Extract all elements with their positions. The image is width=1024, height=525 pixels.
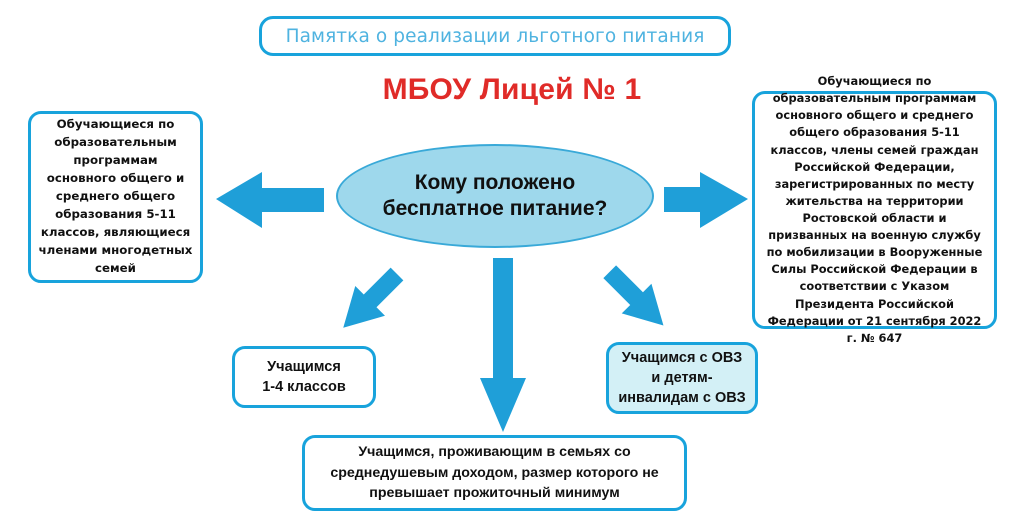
arrow-down-right-icon: [595, 257, 678, 340]
arrow-down-icon: [480, 258, 526, 432]
arrow-left-icon: [216, 172, 324, 228]
category-box-primary-grades: Учащимся 1-4 классов: [232, 346, 376, 408]
central-question-line-2: бесплатное питание?: [383, 196, 608, 222]
arrow-down-left-icon: [328, 259, 411, 342]
low-income-line-3: превышает прожиточный минимум: [369, 485, 619, 501]
category-box-mobilized-families: Обучающиеся по образовательным программа…: [752, 91, 997, 329]
category-text-mobilized-families: Обучающиеся по образовательным программа…: [755, 73, 994, 347]
arrow-right-icon: [664, 172, 748, 228]
category-text-primary-grades: Учащимся 1-4 классов: [262, 357, 346, 398]
primary-grades-line-1: Учащимся: [267, 359, 341, 375]
category-box-low-income: Учащимся, проживающим в семьях со средне…: [302, 435, 687, 511]
category-text-large-families: Обучающиеся по образовательным программа…: [31, 116, 200, 277]
category-box-disabilities: Учащимся с ОВЗ и детям- инвалидам с ОВЗ: [606, 342, 758, 414]
low-income-line-1: Учащимся, проживающим в семьях со: [358, 444, 630, 460]
category-box-large-families: Обучающиеся по образовательным программа…: [28, 111, 203, 283]
disabilities-line-1: Учащимся с ОВЗ: [622, 350, 742, 366]
low-income-line-2: среднедушевым доходом, размер которого н…: [330, 465, 658, 481]
central-question-line-1: Кому положено: [415, 170, 576, 196]
disabilities-line-2: и детям-: [651, 370, 712, 386]
disabilities-line-3: инвалидам с ОВЗ: [618, 390, 745, 406]
primary-grades-line-2: 1-4 классов: [262, 379, 346, 395]
category-text-low-income: Учащимся, проживающим в семьях со средне…: [324, 442, 664, 504]
page-banner: Памятка о реализации льготного питания: [259, 16, 731, 56]
category-text-disabilities: Учащимся с ОВЗ и детям- инвалидам с ОВЗ: [618, 348, 745, 408]
banner-title: Памятка о реализации льготного питания: [286, 26, 705, 47]
central-question-node: Кому положено бесплатное питание?: [336, 144, 654, 248]
